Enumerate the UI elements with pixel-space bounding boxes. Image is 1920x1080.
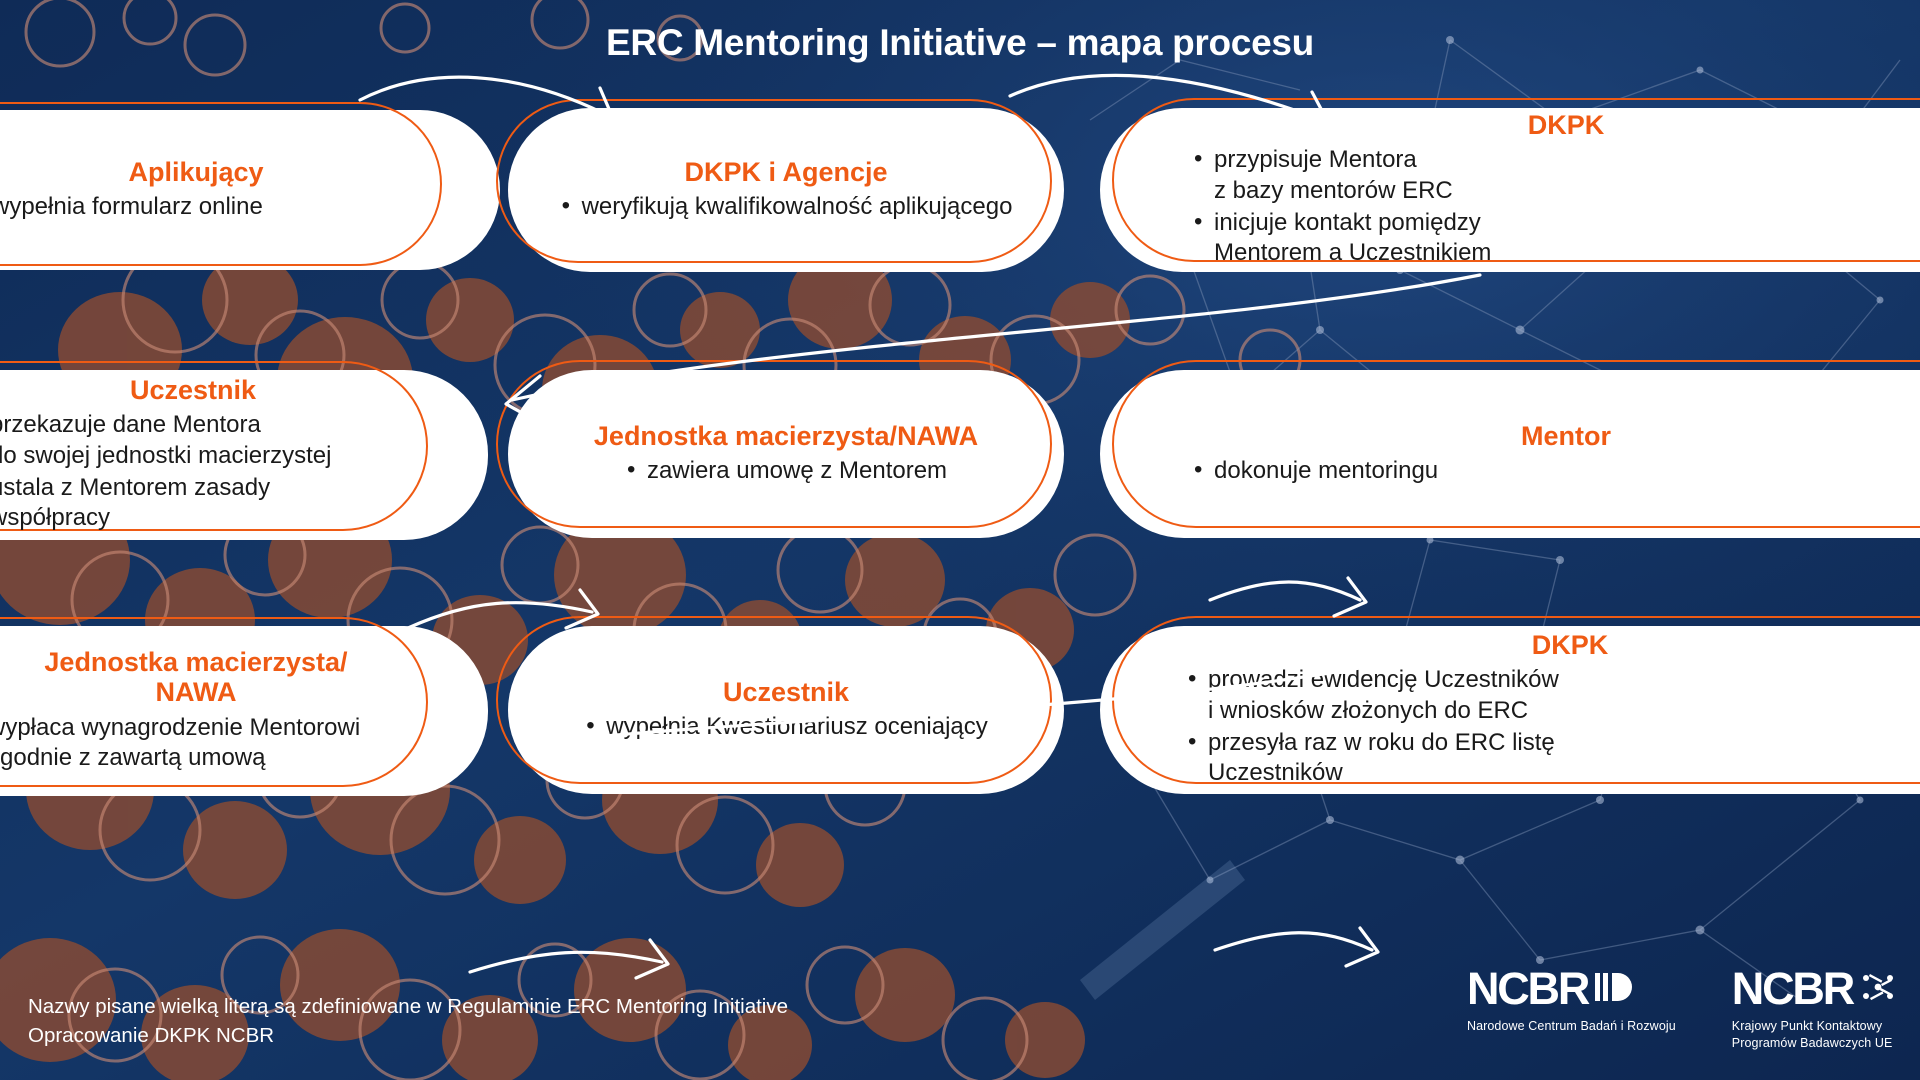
ncbr-wordmark: NCBR [1467,966,1676,1011]
logo-group: NCBR Narodowe Centrum Badań i Rozwoju NC… [1467,966,1898,1052]
background [0,0,1920,1080]
ncbr-wordmark-text: NCBR [1467,966,1588,1011]
ncbr-stripes-icon [1595,966,1635,1011]
ncbr-kpk-logo: NCBR Krajowy [1732,966,1898,1052]
ncbr-kpk-subtitle: Krajowy Punkt Kontaktowy Programów Badaw… [1732,1018,1898,1052]
footer-note: Nazwy pisane wielką literą są zdefiniowa… [28,992,788,1050]
ncbr-subtitle-line: Narodowe Centrum Badań i Rozwoju [1467,1018,1676,1035]
ncbr-kpk-subtitle-line: Krajowy Punkt Kontaktowy [1732,1018,1898,1035]
ncbr-subtitle: Narodowe Centrum Badań i Rozwoju [1467,1018,1676,1035]
ncbr-logo: NCBR Narodowe Centrum Badań i Rozwoju [1467,966,1676,1035]
ncbr-kpk-wordmark-text: NCBR [1732,966,1853,1011]
footer-line-1: Nazwy pisane wielką literą są zdefiniowa… [28,992,788,1021]
ncbr-kpk-subtitle-line: Programów Badawczych UE [1732,1035,1898,1052]
page-title: ERC Mentoring Initiative – mapa procesu [0,22,1920,64]
footer-line-2: Opracowanie DKPK NCBR [28,1021,788,1050]
kpk-dots-icon [1860,966,1898,1011]
flow-arrows [0,0,1920,1080]
ncbr-kpk-wordmark: NCBR [1732,966,1898,1011]
